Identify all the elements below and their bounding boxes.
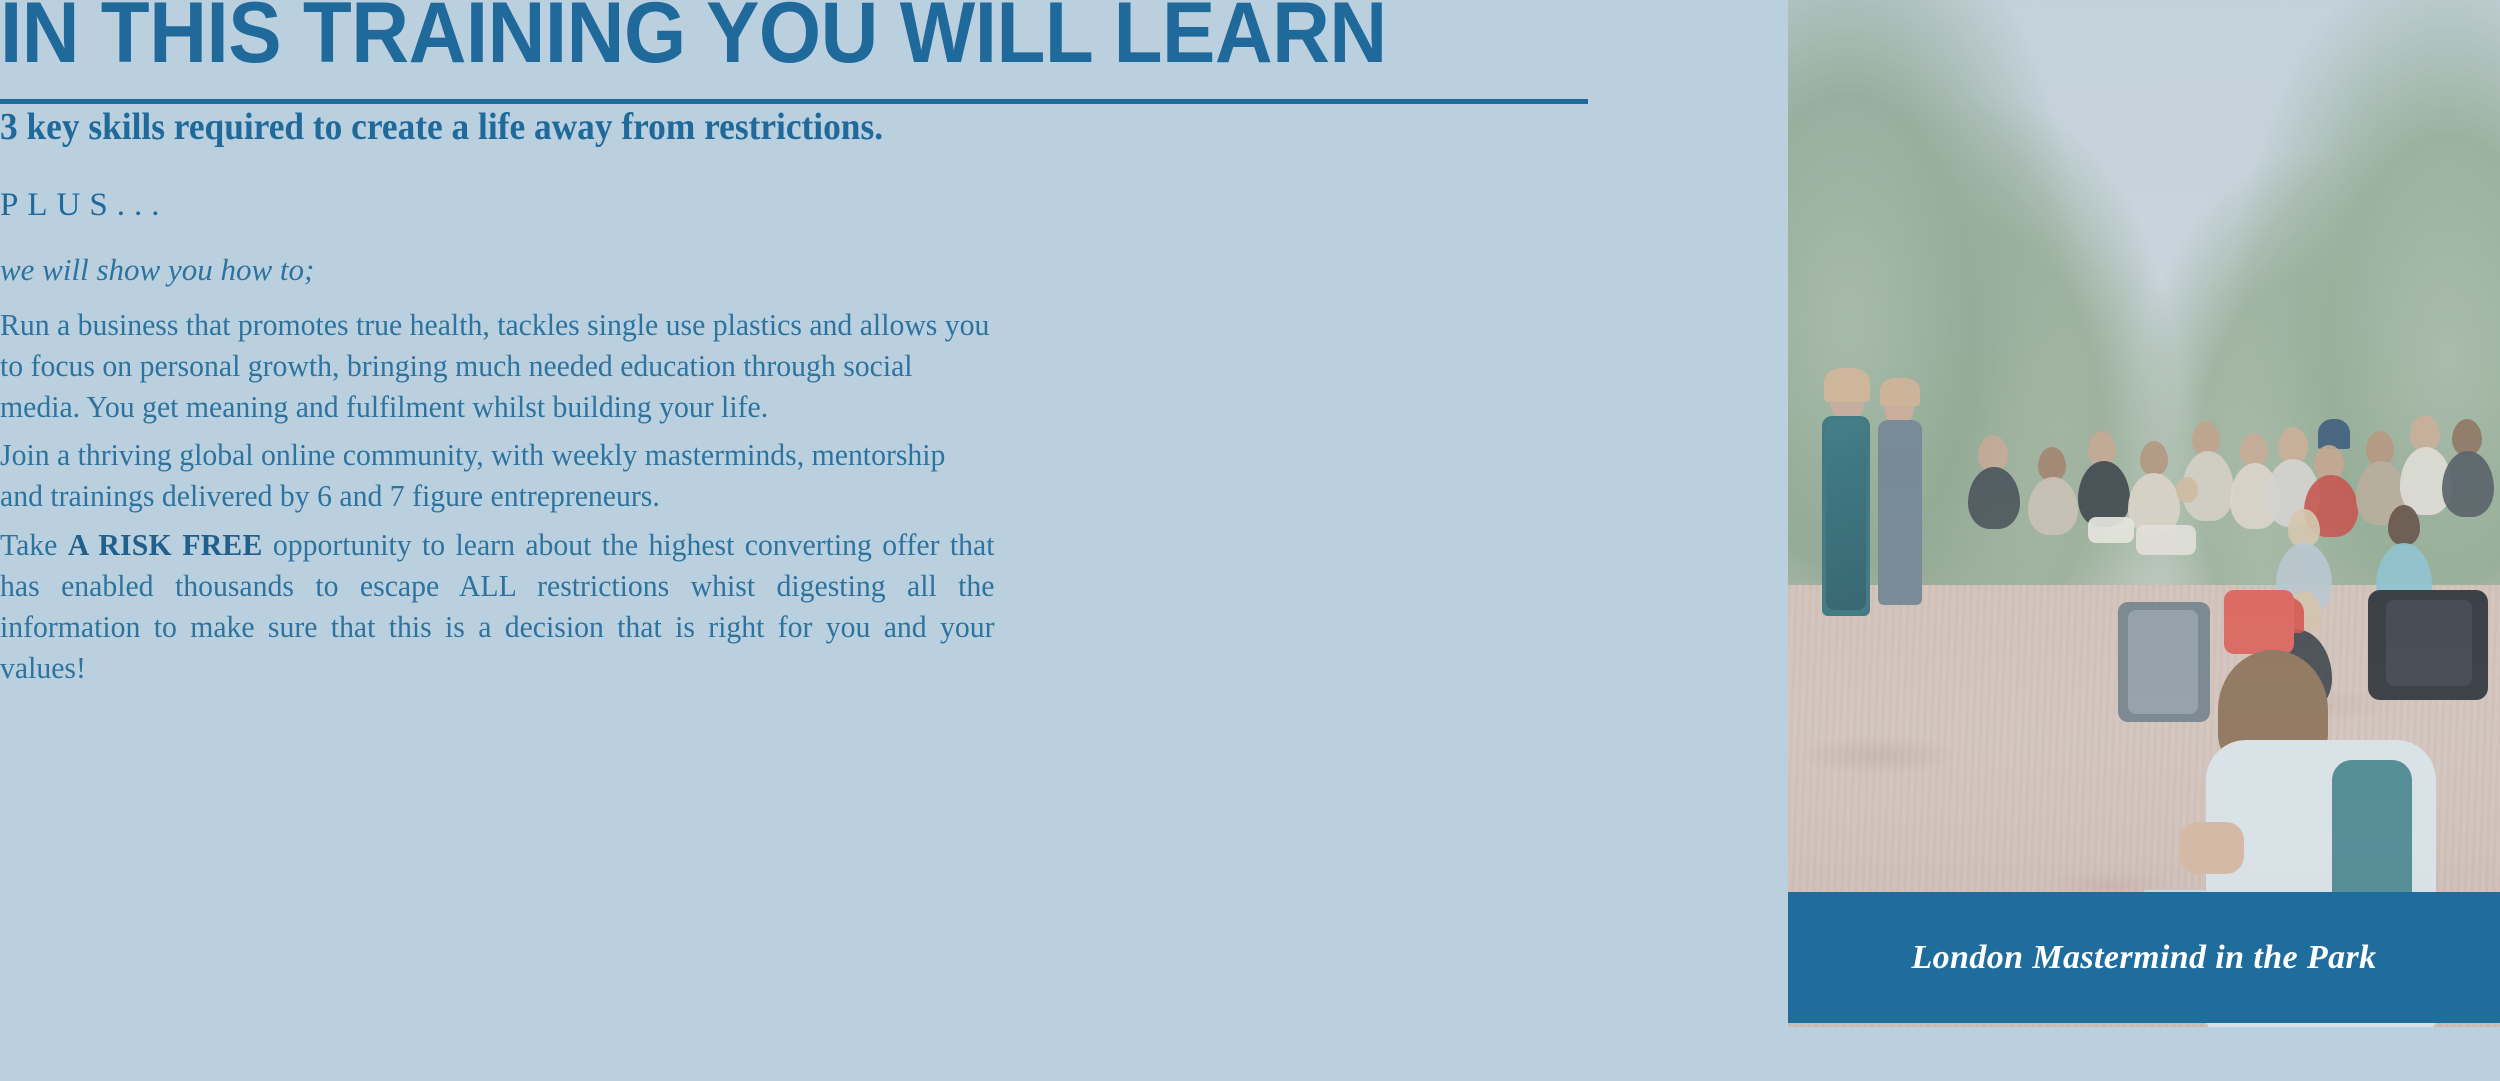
lead-italic-text: we will show you how to; xyxy=(0,250,314,290)
page-title: IN THIS TRAINING YOU WILL LEARN xyxy=(0,0,1488,80)
body-paragraph-1: Run a business that promotes true health… xyxy=(0,305,995,428)
content-column: IN THIS TRAINING YOU WILL LEARN 3 key sk… xyxy=(0,0,1600,1081)
park-photo xyxy=(1788,0,2500,1027)
photo-caption-bar: London Mastermind in the Park xyxy=(1788,892,2500,1023)
paragraph-3-lead: Take xyxy=(0,528,68,562)
promo-page: IN THIS TRAINING YOU WILL LEARN 3 key sk… xyxy=(0,0,2500,1081)
risk-free-emphasis: A RISK FREE xyxy=(68,528,263,562)
body-paragraph-3: Take A RISK FREE opportunity to learn ab… xyxy=(0,525,995,689)
plus-label: PLUS... xyxy=(0,185,168,225)
subheading: 3 key skills required to create a life a… xyxy=(0,105,1451,149)
title-divider xyxy=(0,99,1588,104)
body-paragraph-2: Join a thriving global online community,… xyxy=(0,435,995,517)
photo-caption: London Mastermind in the Park xyxy=(1911,939,2376,977)
